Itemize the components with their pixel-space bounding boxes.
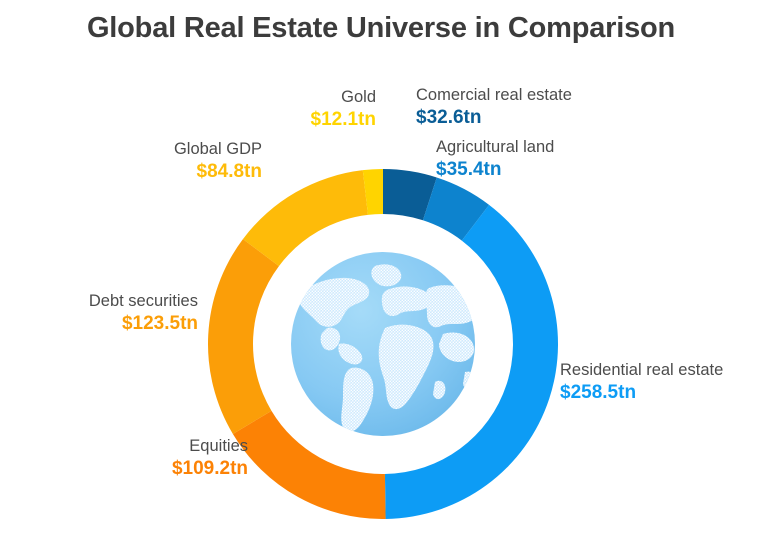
chart-canvas: Global Real Estate Universe in Compariso… xyxy=(0,0,762,539)
donut-slice-debt[interactable] xyxy=(208,239,279,434)
callout-residential-name: Residential real estate xyxy=(560,361,760,380)
callout-gdp-value: $84.8tn xyxy=(22,161,262,183)
callout-agricultural-value: $35.4tn xyxy=(436,159,636,181)
callout-debt: Debt securities $123.5tn xyxy=(0,292,198,336)
callout-equities-name: Equities xyxy=(20,437,248,456)
page-title: Global Real Estate Universe in Compariso… xyxy=(0,12,762,45)
callout-gold-name: Gold xyxy=(236,88,376,107)
callout-residential-value: $258.5tn xyxy=(560,382,760,404)
callout-commercial-name: Comercial real estate xyxy=(416,86,646,105)
callout-gold-value: $12.1tn xyxy=(236,109,376,131)
callout-commercial-value: $32.6tn xyxy=(416,107,646,129)
callout-debt-name: Debt securities xyxy=(0,292,198,311)
callout-gold: Gold $12.1tn xyxy=(236,88,376,132)
callout-agricultural: Agricultural land $35.4tn xyxy=(436,138,636,182)
globe-illustration xyxy=(283,244,483,444)
callout-gdp: Global GDP $84.8tn xyxy=(22,140,262,184)
callout-commercial: Comercial real estate $32.6tn xyxy=(416,86,646,130)
callout-gdp-name: Global GDP xyxy=(22,140,262,159)
globe-icon xyxy=(283,244,483,444)
callout-equities: Equities $109.2tn xyxy=(20,437,248,481)
callout-residential: Residential real estate $258.5tn xyxy=(560,361,760,405)
callout-debt-value: $123.5tn xyxy=(0,313,198,335)
callout-equities-value: $109.2tn xyxy=(20,458,248,480)
callout-agricultural-name: Agricultural land xyxy=(436,138,636,157)
